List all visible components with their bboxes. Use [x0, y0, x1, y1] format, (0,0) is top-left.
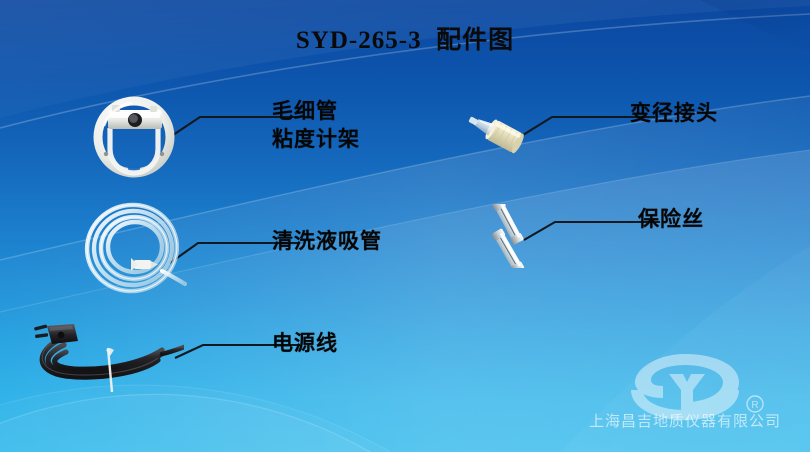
callout-label-fuse: 保险丝: [638, 206, 704, 234]
callout-label-power-cord: 电源线: [272, 330, 338, 358]
part-capillary-viscometer-holder: [88, 92, 184, 178]
company-watermark: R 上海昌吉地质仪器有限公司: [565, 348, 805, 440]
part-reducing-adapter: [462, 106, 534, 162]
part-power-cord: [16, 314, 184, 392]
power-plug: [34, 324, 78, 344]
slide-canvas: SYD-265-3 配件图: [0, 0, 810, 452]
callout-label-capillary-holder: 毛细管 粘度计架: [272, 98, 360, 153]
arc-bottom-circle: [0, 394, 370, 452]
part-fuse: [480, 204, 546, 268]
company-name: 上海昌吉地质仪器有限公司: [565, 410, 805, 431]
arc-bottom-circle-line-2: [0, 385, 390, 452]
callout-label-reducing-adapter: 变径接头: [630, 100, 718, 128]
page-title: SYD-265-3 配件图: [0, 20, 810, 56]
part-cleaning-liquid-suction-tube: [78, 196, 190, 300]
arc-bottom-circle-line: [0, 394, 370, 452]
arc-bottom-circle-2: [0, 385, 390, 452]
callout-label-wash-tube: 清洗液吸管: [272, 228, 382, 256]
